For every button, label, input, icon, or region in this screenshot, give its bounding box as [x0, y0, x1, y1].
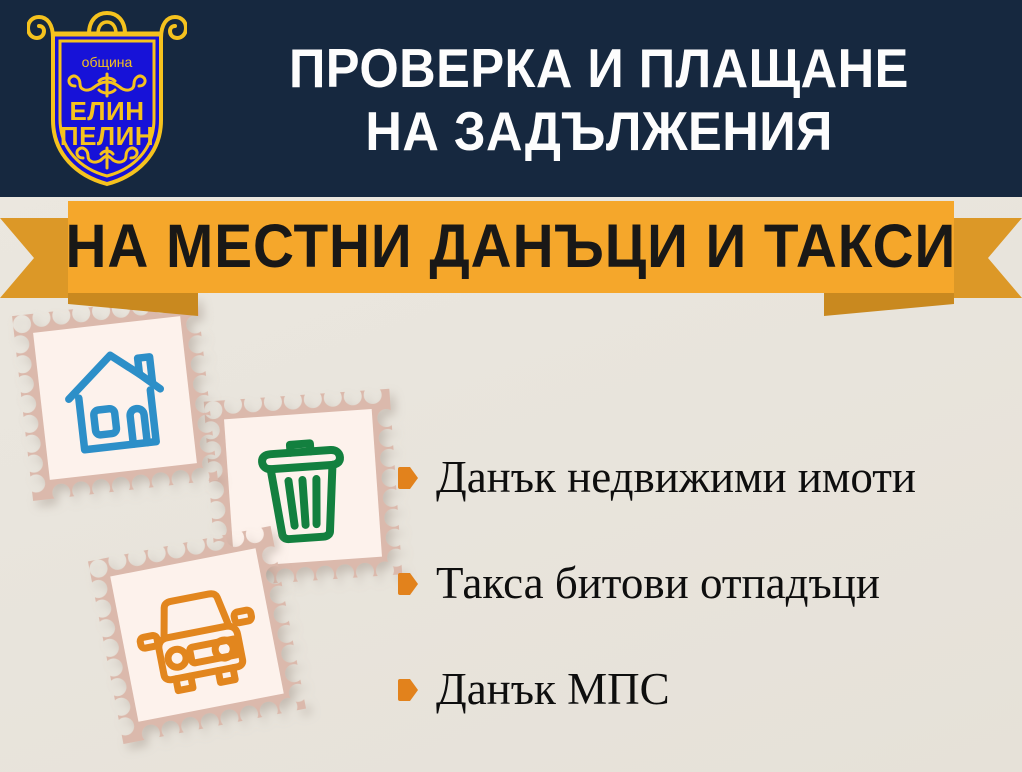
services-list: Данък недвижими имоти Такса битови отпад… [398, 424, 1008, 742]
ribbon-text: НА МЕСТНИ ДАНЪЦИ И ТАКСИ [68, 216, 954, 277]
logo-municipality-word: община [82, 54, 133, 70]
list-item-label: Данък МПС [436, 667, 670, 712]
ribbon-fold-right [824, 292, 954, 316]
stamp-house [12, 295, 218, 501]
page-title: ПРОВЕРКА И ПЛАЩАНЕ НА ЗАДЪЛЖЕНИЯ [186, 12, 1012, 187]
header-inner: община ЕЛИН ПЕЛИН [0, 0, 1022, 197]
stamp-car [88, 526, 306, 744]
bullet-arrow-icon [398, 573, 418, 595]
title-line-1: ПРОВЕРКА И ПЛАЩАНЕ [289, 37, 909, 100]
list-item[interactable]: Такса битови отпадъци [398, 530, 1008, 636]
list-item-label: Такса битови отпадъци [436, 561, 880, 606]
title-line-2: НА ЗАДЪЛЖЕНИЯ [365, 100, 833, 163]
list-item-label: Данък недвижими имоти [436, 455, 916, 500]
ribbon-banner: НА МЕСТНИ ДАНЪЦИ И ТАКСИ [0, 196, 1022, 308]
list-item[interactable]: Данък МПС [398, 636, 1008, 742]
header-bar: община ЕЛИН ПЕЛИН [0, 0, 1022, 197]
list-item[interactable]: Данък недвижими имоти [398, 424, 1008, 530]
bullet-arrow-icon [398, 679, 418, 701]
ribbon-band: НА МЕСТНИ ДАНЪЦИ И ТАКСИ [68, 201, 954, 293]
municipality-logo[interactable]: община ЕЛИН ПЕЛИН [27, 8, 187, 190]
bullet-arrow-icon [398, 467, 418, 489]
poster-canvas: Данък недвижими имоти Такса битови отпад… [0, 0, 1022, 772]
